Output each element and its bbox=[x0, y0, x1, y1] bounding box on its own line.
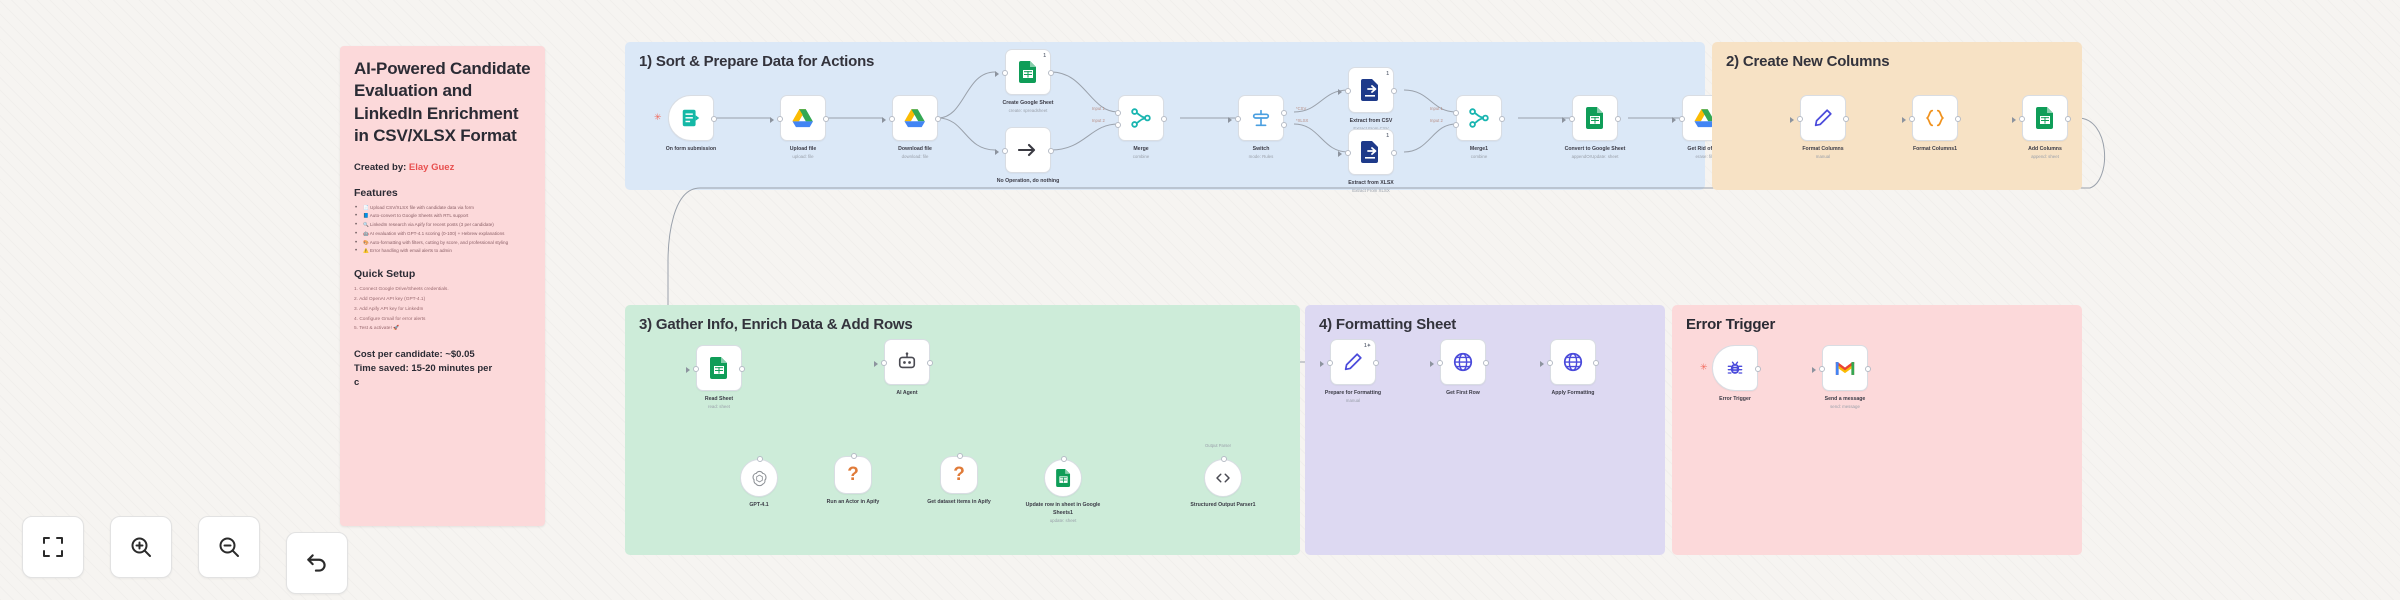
google-sheets-icon bbox=[2036, 107, 2054, 129]
node-sublabel: combine bbox=[1433, 154, 1525, 161]
node-read-sheet[interactable]: Read Sheet read: sheet bbox=[696, 345, 742, 410]
input-port[interactable] bbox=[1569, 116, 1575, 122]
input-port[interactable] bbox=[881, 360, 887, 366]
trigger-star-icon: ✳ bbox=[1700, 362, 1708, 373]
setup-step: 1. Connect Google Drive/Sheets credentia… bbox=[354, 285, 531, 295]
setup-steps-list: 1. Connect Google Drive/Sheets credentia… bbox=[354, 285, 531, 334]
node-switch[interactable]: Switch mode: Rules bbox=[1238, 95, 1284, 160]
sticky-title: AI-Powered Candidate Evaluation and Link… bbox=[354, 58, 531, 148]
node-get-first-row[interactable]: Get First Row bbox=[1440, 339, 1486, 398]
node-sublabel: manual bbox=[1777, 154, 1869, 161]
input-port-1[interactable] bbox=[1115, 110, 1121, 116]
input-arrow bbox=[882, 117, 886, 123]
node-label: AI Agent bbox=[861, 390, 953, 398]
tool-port[interactable] bbox=[1221, 456, 1227, 462]
feature-item: 🎨 Auto-formatting with filters, cutting … bbox=[354, 239, 531, 248]
node-label: Update row in sheet in Google Sheets1 bbox=[1017, 502, 1109, 518]
node-label: Prepare for Formatting bbox=[1307, 390, 1399, 398]
gmail-icon bbox=[1834, 360, 1856, 377]
node-download-file[interactable]: Download file download: file bbox=[892, 95, 938, 160]
node-sublabel: send: message bbox=[1799, 404, 1891, 411]
node-no-operation[interactable]: No Operation, do nothing bbox=[1005, 127, 1051, 186]
input-port[interactable] bbox=[1327, 360, 1333, 366]
question-mark-icon: ? bbox=[953, 464, 965, 486]
panel-2-title: 2) Create New Columns bbox=[1726, 53, 1889, 70]
input-arrow bbox=[874, 361, 878, 367]
bug-icon bbox=[1725, 358, 1745, 378]
tool-port[interactable] bbox=[851, 453, 857, 459]
node-structured-output-parser[interactable]: Structured Output Parser1 bbox=[1200, 459, 1246, 510]
node-label: Add Columns bbox=[1999, 146, 2091, 154]
node-label: Send a message bbox=[1799, 396, 1891, 404]
zoom-in-button[interactable] bbox=[110, 516, 172, 578]
features-heading: Features bbox=[354, 187, 531, 199]
zoom-to-fit-icon bbox=[41, 535, 65, 559]
node-label: Convert to Google Sheet bbox=[1549, 146, 1641, 154]
input-port[interactable] bbox=[777, 116, 783, 122]
node-run-actor-apify[interactable]: ? Run an Actor in Apify bbox=[830, 456, 876, 507]
node-sublabel: combine bbox=[1095, 154, 1187, 161]
extract-file-icon bbox=[1361, 79, 1381, 101]
merge-icon bbox=[1468, 107, 1490, 129]
node-add-columns[interactable]: Add Columns append: sheet bbox=[2022, 95, 2068, 160]
input-port-2[interactable] bbox=[1115, 122, 1121, 128]
noop-arrow-icon bbox=[1018, 142, 1038, 158]
undo-arrow-icon bbox=[304, 550, 330, 576]
node-sublabel: download: file bbox=[869, 154, 961, 161]
code-braces-icon bbox=[1924, 107, 1946, 129]
node-merge1[interactable]: Merge1 combine bbox=[1456, 95, 1502, 160]
input-port[interactable] bbox=[1437, 360, 1443, 366]
input-arrow bbox=[1812, 367, 1816, 373]
merge-icon bbox=[1130, 107, 1152, 129]
node-extract-from-xlsx[interactable]: 1 Extract from XLSX Extract From XLSX bbox=[1348, 129, 1394, 194]
node-label: Merge1 bbox=[1433, 146, 1525, 154]
output-port[interactable] bbox=[1048, 70, 1054, 76]
panel-error-trigger[interactable]: Error Trigger bbox=[1672, 305, 2082, 555]
setup-step: 3. Add Apify API key for LinkedIn bbox=[354, 305, 531, 315]
node-convert-to-google-sheet[interactable]: Convert to Google Sheet appendOrUpdate: … bbox=[1572, 95, 1618, 160]
node-label: Error Trigger bbox=[1689, 396, 1781, 404]
zoom-out-icon bbox=[217, 535, 241, 559]
node-badge: 1 bbox=[1386, 71, 1389, 77]
node-label: Upload file bbox=[757, 146, 849, 154]
google-sheets-icon bbox=[1586, 107, 1604, 129]
node-send-a-message[interactable]: Send a message send: message bbox=[1822, 345, 1868, 410]
panel-gather-enrich[interactable]: 3) Gather Info, Enrich Data & Add Rows bbox=[625, 305, 1300, 555]
created-by-label: Created by: bbox=[354, 162, 406, 173]
output-port[interactable] bbox=[935, 116, 941, 122]
node-create-google-sheet[interactable]: 1 Create Google Sheet create: spreadshee… bbox=[1005, 49, 1051, 114]
output-port[interactable] bbox=[1755, 366, 1761, 372]
node-label: Switch bbox=[1215, 146, 1307, 154]
globe-icon bbox=[1452, 351, 1474, 373]
node-format-columns[interactable]: Format Columns manual bbox=[1800, 95, 1846, 160]
input-arrow bbox=[1562, 117, 1566, 123]
node-label: Format Columns bbox=[1777, 146, 1869, 154]
merge-input-2-label: Input 2 bbox=[1092, 118, 1105, 123]
output-port[interactable] bbox=[823, 116, 829, 122]
node-label: Format Columns1 bbox=[1889, 146, 1981, 154]
output-port[interactable] bbox=[1161, 116, 1167, 122]
reset-button[interactable] bbox=[286, 532, 348, 594]
google-sheets-icon bbox=[710, 357, 728, 379]
node-prepare-for-formatting[interactable]: 1✦ Prepare for Formatting manual bbox=[1330, 339, 1376, 404]
feature-item: 🔍 LinkedIn research via Apify for recent… bbox=[354, 221, 531, 230]
node-sublabel: appendOrUpdate: sheet bbox=[1549, 154, 1641, 161]
input-arrow bbox=[1338, 151, 1342, 157]
output-port[interactable] bbox=[1593, 360, 1599, 366]
switch-output-1-label: *CSV bbox=[1296, 106, 1306, 111]
input-port[interactable] bbox=[2019, 116, 2025, 122]
node-sublabel: update: sheet bbox=[1017, 518, 1109, 525]
feature-item: ⚠️ Error handling with email alerts to a… bbox=[354, 247, 531, 256]
output-port[interactable] bbox=[1483, 360, 1489, 366]
input-arrow bbox=[686, 367, 690, 373]
node-badge: 1 bbox=[1043, 53, 1046, 59]
node-sublabel: Extract From XLSX bbox=[1325, 188, 1417, 195]
input-arrow bbox=[1540, 361, 1544, 367]
input-port[interactable] bbox=[1797, 116, 1803, 122]
openai-icon bbox=[751, 470, 768, 487]
merge1-input-2-label: Input 2 bbox=[1430, 118, 1443, 123]
input-arrow bbox=[1338, 89, 1342, 95]
node-extract-from-csv[interactable]: 1 Extract from CSV Extract From CSV bbox=[1348, 67, 1394, 132]
output-port[interactable] bbox=[2065, 116, 2071, 122]
output-port[interactable] bbox=[1955, 116, 1961, 122]
node-label: Read Sheet bbox=[673, 396, 765, 404]
node-merge[interactable]: Merge combine bbox=[1118, 95, 1164, 160]
google-sheets-icon bbox=[1056, 469, 1071, 487]
node-on-form-submission[interactable]: On form submission bbox=[668, 95, 714, 154]
node-ai-agent[interactable]: AI Agent bbox=[884, 339, 930, 398]
form-icon bbox=[680, 107, 702, 129]
node-gpt[interactable]: GPT-4.1 bbox=[736, 459, 782, 510]
input-port[interactable] bbox=[1819, 366, 1825, 372]
sticky-note[interactable]: AI-Powered Candidate Evaluation and Link… bbox=[340, 46, 545, 526]
input-arrow bbox=[1430, 361, 1434, 367]
zoom-out-button[interactable] bbox=[198, 516, 260, 578]
tool-port[interactable] bbox=[1061, 456, 1067, 462]
node-label: Apply Formatting bbox=[1527, 390, 1619, 398]
output-port[interactable] bbox=[927, 360, 933, 366]
google-sheets-icon bbox=[1019, 61, 1037, 83]
output-port[interactable] bbox=[1373, 360, 1379, 366]
input-port[interactable] bbox=[1345, 150, 1351, 156]
edit-pencil-icon bbox=[1342, 351, 1364, 373]
setup-step: 5. Test & activate! 🚀 bbox=[354, 324, 531, 334]
time-saved: Time saved: 15-20 minutes per bbox=[354, 362, 531, 376]
input-port-2[interactable] bbox=[1453, 122, 1459, 128]
globe-icon bbox=[1562, 351, 1584, 373]
input-arrow bbox=[1902, 117, 1906, 123]
node-label: Extract from XLSX bbox=[1325, 180, 1417, 188]
merge1-input-1-label: Input 1 bbox=[1430, 106, 1443, 111]
input-port[interactable] bbox=[1909, 116, 1915, 122]
node-label: Get dataset items in Apify bbox=[913, 499, 1005, 507]
sticky-created-by: Created by: Elay Guez bbox=[354, 162, 531, 173]
node-apply-formatting[interactable]: Apply Formatting bbox=[1550, 339, 1596, 398]
input-port[interactable] bbox=[1235, 116, 1241, 122]
panel-1-title: 1) Sort & Prepare Data for Actions bbox=[639, 53, 874, 70]
tool-port[interactable] bbox=[957, 453, 963, 459]
extract-file-icon bbox=[1361, 141, 1381, 163]
author-name: Elay Guez bbox=[409, 162, 454, 173]
question-mark-icon: ? bbox=[847, 464, 859, 486]
node-label: Run an Actor in Apify bbox=[807, 499, 899, 507]
feature-item: 📘 Auto-convert to Google Sheets with RTL… bbox=[354, 212, 531, 221]
trigger-star-icon: ✳ bbox=[654, 112, 662, 123]
input-arrow bbox=[995, 149, 999, 155]
output-port[interactable] bbox=[1048, 148, 1054, 154]
merge-input-1-label: Input 1 bbox=[1092, 106, 1105, 111]
output-port[interactable] bbox=[1391, 88, 1397, 94]
input-arrow bbox=[1672, 117, 1676, 123]
node-update-row-google-sheets[interactable]: Update row in sheet in Google Sheets1 up… bbox=[1040, 459, 1086, 524]
setup-step: 4. Configure Gmail for error alerts bbox=[354, 315, 531, 325]
node-upload-file[interactable]: Upload file upload: file bbox=[780, 95, 826, 160]
feature-item: 🤖 AI evaluation with GPT-4.1 scoring (0-… bbox=[354, 230, 531, 239]
panel-4-title: 4) Formatting Sheet bbox=[1319, 316, 1456, 333]
input-arrow bbox=[1228, 117, 1232, 123]
input-arrow bbox=[1320, 361, 1324, 367]
cost-per-candidate: Cost per candidate: ~$0.05 bbox=[354, 348, 531, 362]
node-badge: 1✦ bbox=[1364, 343, 1371, 349]
node-format-columns1[interactable]: Format Columns1 bbox=[1912, 95, 1958, 154]
canvas-toolbar[interactable] bbox=[22, 516, 348, 578]
node-label: Get First Row bbox=[1417, 390, 1509, 398]
input-arrow bbox=[995, 71, 999, 77]
node-label: Structured Output Parser1 bbox=[1177, 502, 1269, 510]
node-label: Create Google Sheet bbox=[982, 100, 1074, 108]
output-port[interactable] bbox=[711, 116, 717, 122]
output-port-1[interactable] bbox=[1281, 110, 1287, 116]
time-saved-cont: c bbox=[354, 376, 531, 390]
input-arrow bbox=[1790, 117, 1794, 123]
node-sublabel: create: spreadsheet bbox=[982, 108, 1074, 115]
robot-icon bbox=[896, 352, 918, 372]
node-label: GPT-4.1 bbox=[713, 502, 805, 510]
node-error-trigger[interactable]: Error Trigger bbox=[1712, 345, 1758, 404]
output-parser-port-label: Output Parser bbox=[1205, 443, 1231, 448]
node-label: Download file bbox=[869, 146, 961, 154]
input-port-1[interactable] bbox=[1453, 110, 1459, 116]
node-get-dataset-items-apify[interactable]: ? Get dataset items in Apify bbox=[936, 456, 982, 507]
output-port[interactable] bbox=[1843, 116, 1849, 122]
tool-port[interactable] bbox=[757, 456, 763, 462]
node-sublabel: mode: Rules bbox=[1215, 154, 1307, 161]
node-sublabel: manual bbox=[1307, 398, 1399, 405]
output-port[interactable] bbox=[1499, 116, 1505, 122]
node-sublabel: read: sheet bbox=[673, 404, 765, 411]
input-port[interactable] bbox=[1679, 116, 1685, 122]
panel-3-title: 3) Gather Info, Enrich Data & Add Rows bbox=[639, 316, 913, 333]
input-port[interactable] bbox=[1002, 70, 1008, 76]
edit-pencil-icon bbox=[1812, 107, 1834, 129]
zoom-in-icon bbox=[129, 535, 153, 559]
google-drive-icon bbox=[904, 108, 926, 128]
setup-heading: Quick Setup bbox=[354, 268, 531, 280]
node-label: No Operation, do nothing bbox=[982, 178, 1074, 186]
node-label: Merge bbox=[1095, 146, 1187, 154]
switch-output-2-label: *XLSX bbox=[1296, 118, 1308, 123]
output-port[interactable] bbox=[1391, 150, 1397, 156]
zoom-to-fit-button[interactable] bbox=[22, 516, 84, 578]
node-badge: 1 bbox=[1386, 133, 1389, 139]
output-port[interactable] bbox=[1615, 116, 1621, 122]
google-drive-icon bbox=[792, 108, 814, 128]
switch-icon bbox=[1250, 107, 1272, 129]
code-angle-icon bbox=[1214, 470, 1232, 486]
output-port[interactable] bbox=[1865, 366, 1871, 372]
input-arrow bbox=[2012, 117, 2016, 123]
features-list: 📄 Upload CSV/XLSX file with candidate da… bbox=[354, 204, 531, 256]
node-sublabel: upload: file bbox=[757, 154, 849, 161]
setup-step: 2. Add OpenAI API key (GPT-4.1) bbox=[354, 295, 531, 305]
input-port[interactable] bbox=[1345, 88, 1351, 94]
node-label: Extract from CSV bbox=[1325, 118, 1417, 126]
input-port[interactable] bbox=[889, 116, 895, 122]
node-label: On form submission bbox=[645, 146, 737, 154]
feature-item: 📄 Upload CSV/XLSX file with candidate da… bbox=[354, 204, 531, 213]
input-port[interactable] bbox=[1002, 148, 1008, 154]
input-arrow bbox=[770, 117, 774, 123]
input-port[interactable] bbox=[693, 366, 699, 372]
node-sublabel: append: sheet bbox=[1999, 154, 2091, 161]
input-port[interactable] bbox=[1547, 360, 1553, 366]
output-port-2[interactable] bbox=[1281, 122, 1287, 128]
panel-error-title: Error Trigger bbox=[1686, 316, 1775, 333]
output-port[interactable] bbox=[739, 366, 745, 372]
